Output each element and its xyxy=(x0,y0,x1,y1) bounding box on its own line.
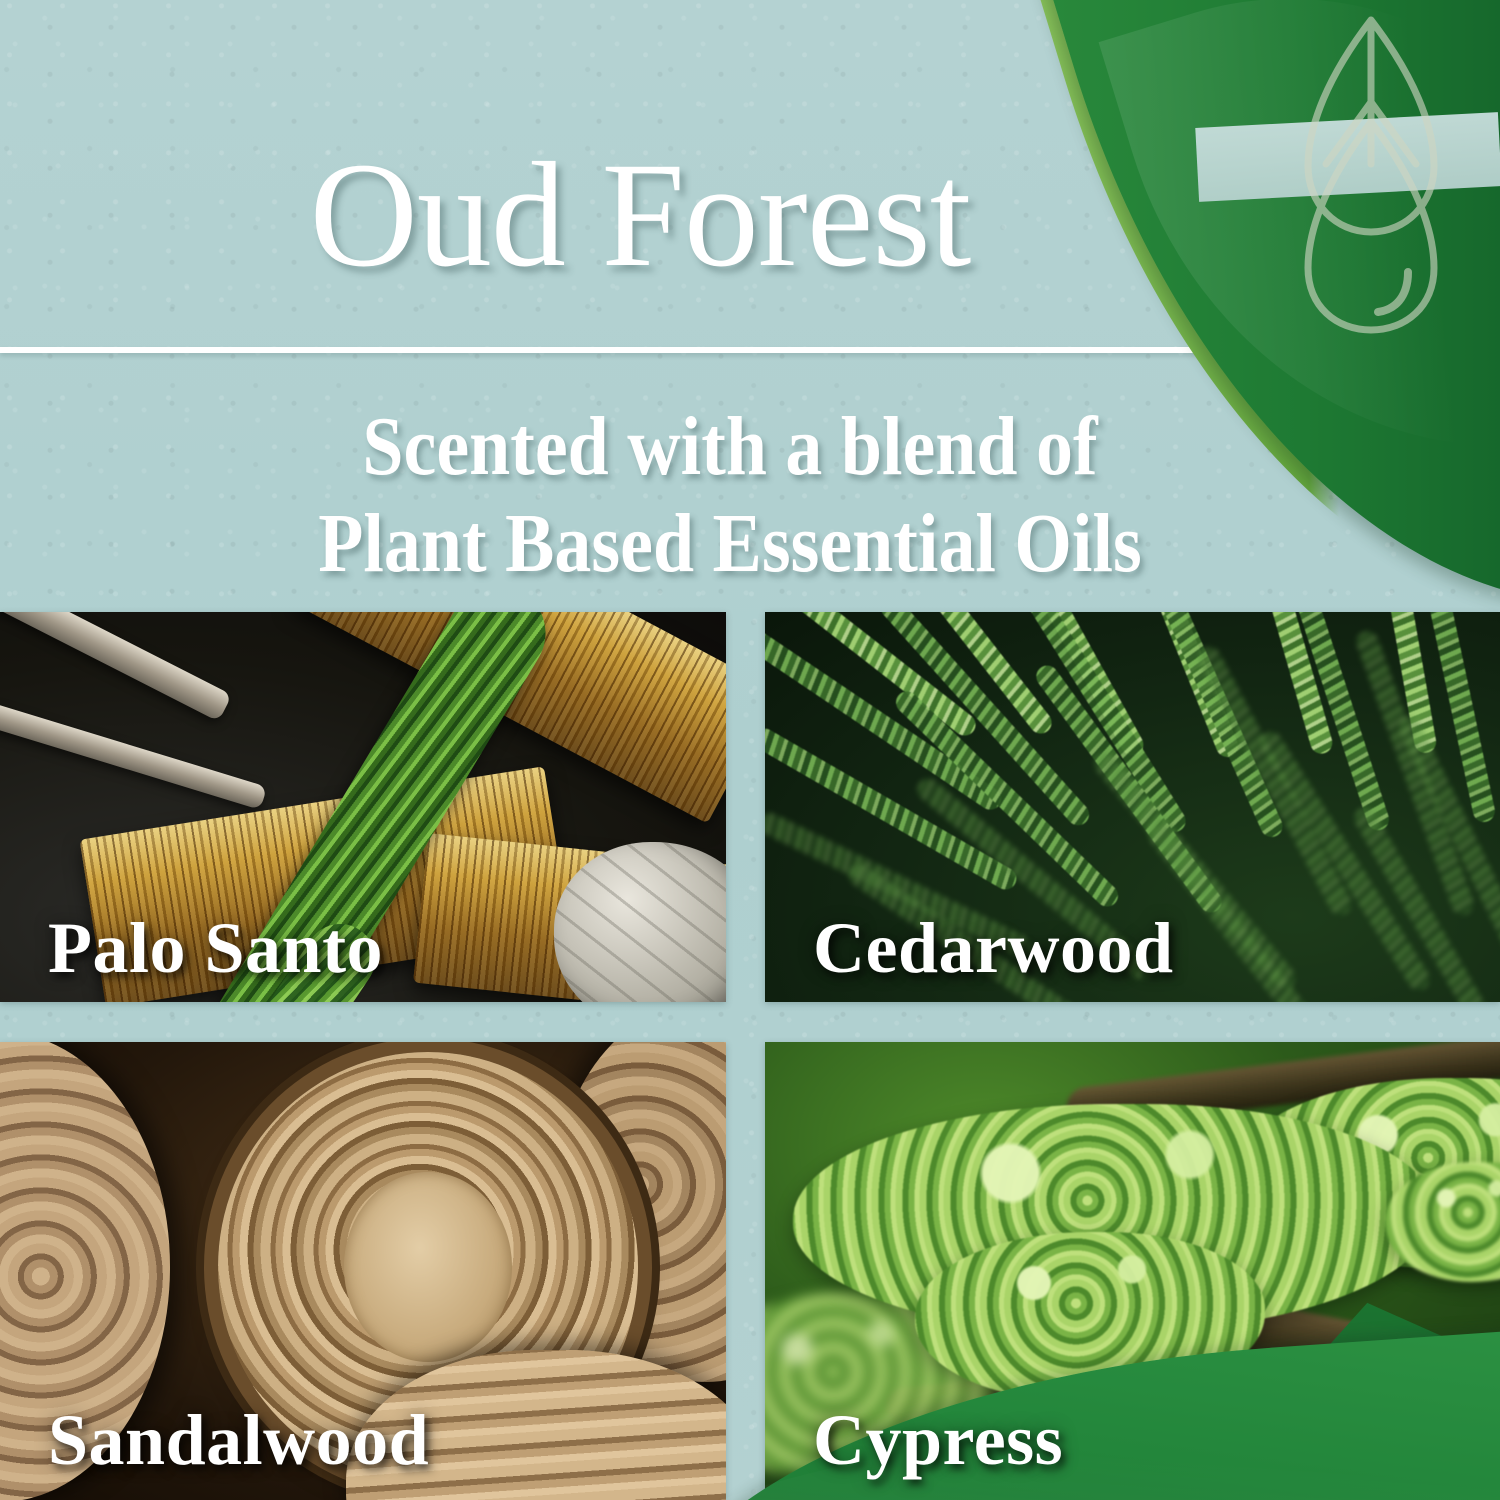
page-title: Oud Forest xyxy=(0,140,1280,290)
subtitle-line-2: Plant Based Essential Oils xyxy=(88,495,1373,592)
header-subtitle: Scented with a blend of Plant Based Esse… xyxy=(88,398,1373,593)
leaf-droplet-logo-icon xyxy=(1286,14,1456,334)
subtitle-line-1: Scented with a blend of xyxy=(88,398,1373,495)
ingredient-label-cedarwood: Cedarwood xyxy=(813,912,1174,984)
ingredient-label-palo-santo: Palo Santo xyxy=(48,912,383,984)
ingredient-tile-palo-santo[interactable]: Palo Santo xyxy=(0,612,726,1002)
product-infographic: Oud Forest Scented with a blend of Plant… xyxy=(0,0,1500,1500)
ingredient-label-sandalwood: Sandalwood xyxy=(48,1404,429,1476)
ingredient-tile-sandalwood[interactable]: Sandalwood xyxy=(0,1042,726,1500)
ingredient-tile-cedarwood[interactable]: Cedarwood xyxy=(765,612,1500,1002)
ingredient-label-cypress: Cypress xyxy=(813,1404,1063,1476)
